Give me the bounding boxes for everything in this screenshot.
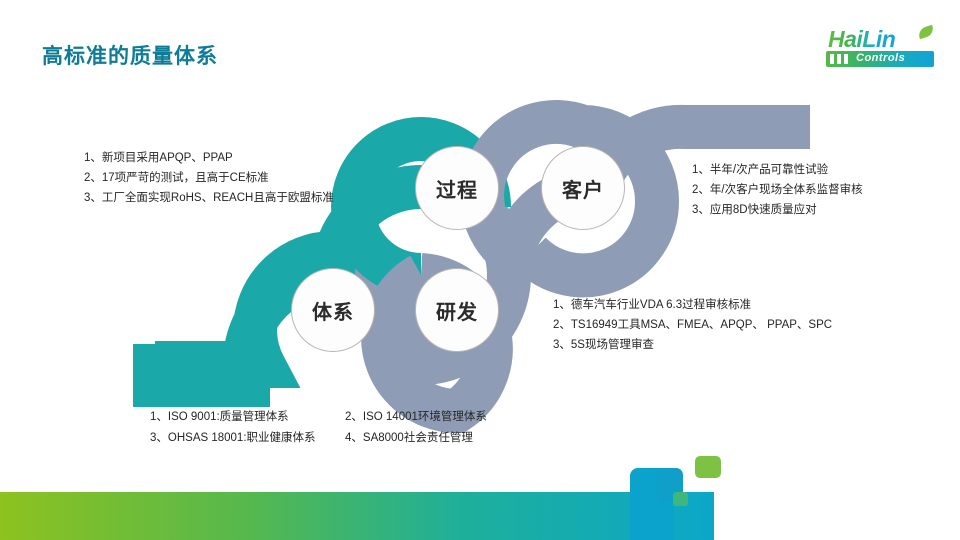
text-cell: 4、SA8000社会责任管理 [345,428,487,449]
text-line: 1、半年/次产品可靠性试验 [692,160,863,180]
text-block-right: 1、半年/次产品可靠性试验 2、年/次客户现场全体系监督审核 3、应用8D快速质… [692,160,863,220]
process-ribbon-diagram [0,0,960,540]
text-line: 3、应用8D快速质量应对 [692,200,863,220]
text-block-middle: 1、德车汽车行业VDA 6.3过程审核标准 2、TS16949工具MSA、FME… [553,295,832,355]
slide-canvas: 高标准的质量体系 HaiLin Controls [0,0,960,540]
text-line: 2、17项严苛的测试，且高于CE标准 [84,168,334,188]
node-circle-customer[interactable]: 客户 [541,146,625,230]
text-block-bottom: 1、ISO 9001:质量管理体系 2、ISO 14001环境管理体系 3、OH… [150,407,487,449]
decor-square-green [695,456,721,478]
node-label-rd: 研发 [436,296,478,325]
text-line: 1、新项目采用APQP、PPAP [84,148,334,168]
node-label-system: 体系 [312,296,354,325]
text-line: 3、5S现场管理审查 [553,335,832,355]
node-circle-system[interactable]: 体系 [291,268,375,352]
text-block-top-left: 1、新项目采用APQP、PPAP 2、17项严苛的测试，且高于CE标准 3、工厂… [84,148,334,208]
decor-square-green-small [673,492,688,506]
text-line: 2、TS16949工具MSA、FMEA、APQP、 PPAP、SPC [553,315,832,335]
text-line: 3、工厂全面实现RoHS、REACH且高于欧盟标准 [84,188,334,208]
node-label-customer: 客户 [562,174,604,203]
footer-gradient-bar [0,492,714,540]
text-line: 1、德车汽车行业VDA 6.3过程审核标准 [553,295,832,315]
text-line: 2、年/次客户现场全体系监督审核 [692,180,863,200]
text-cell: 2、ISO 14001环境管理体系 [345,407,487,428]
node-circle-rd[interactable]: 研发 [415,268,499,352]
text-cell: 1、ISO 9001:质量管理体系 [150,407,345,428]
node-circle-process[interactable]: 过程 [415,146,499,230]
node-label-process: 过程 [436,174,478,203]
text-cell: 3、OHSAS 18001:职业健康体系 [150,428,345,449]
